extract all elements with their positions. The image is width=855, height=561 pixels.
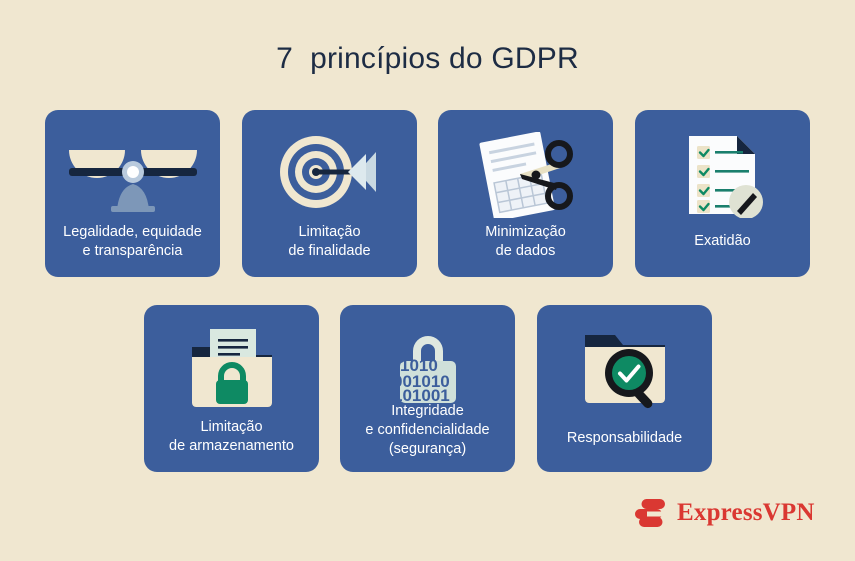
- principle-card-exatidao[interactable]: Exatidão: [635, 110, 810, 277]
- principle-card-responsabilidade[interactable]: Responsabilidade: [537, 305, 712, 472]
- principle-card-label: Limitação de armazenamento: [150, 418, 313, 456]
- expressvpn-logo[interactable]: ExpressVPN: [634, 496, 815, 528]
- expressvpn-logo-mark: [634, 496, 666, 528]
- folder-magnifier-check-icon: [571, 325, 679, 411]
- page-title: 7 princípios do GDPR: [0, 42, 855, 76]
- principle-card-label: Minimização de dados: [444, 223, 607, 261]
- checklist-pencil-icon: [677, 132, 769, 218]
- folder-lock-icon: [182, 325, 282, 411]
- principle-card-limitacao-armazenamento[interactable]: Limitação de armazenamento: [144, 305, 319, 472]
- principle-card-label: Legalidade, equidade e transparência: [51, 223, 214, 261]
- balance-scale-icon: [63, 132, 203, 212]
- gdpr-principles-infographic: 7 princípios do GDPR Legalidade, equidad…: [0, 0, 855, 561]
- principle-card-label: Responsabilidade: [543, 429, 706, 448]
- document-scissors-icon: [474, 132, 578, 218]
- principle-card-minimizacao[interactable]: Minimização de dados: [438, 110, 613, 277]
- principle-card-label: Integridade e confidencialidade (seguran…: [346, 402, 509, 459]
- principle-card-label: Exatidão: [641, 232, 804, 251]
- principle-card-integridade[interactable]: 1010 001010 101001 Integridade e confide…: [340, 305, 515, 472]
- principle-card-limitacao-finalidade[interactable]: Limitação de finalidade: [242, 110, 417, 277]
- target-arrow-icon: [274, 132, 386, 212]
- principle-card-legalidade[interactable]: Legalidade, equidade e transparência: [45, 110, 220, 277]
- principle-card-label: Limitação de finalidade: [248, 223, 411, 261]
- binary-padlock-icon: 1010 001010 101001: [382, 325, 474, 407]
- brand-name: ExpressVPN: [677, 500, 815, 525]
